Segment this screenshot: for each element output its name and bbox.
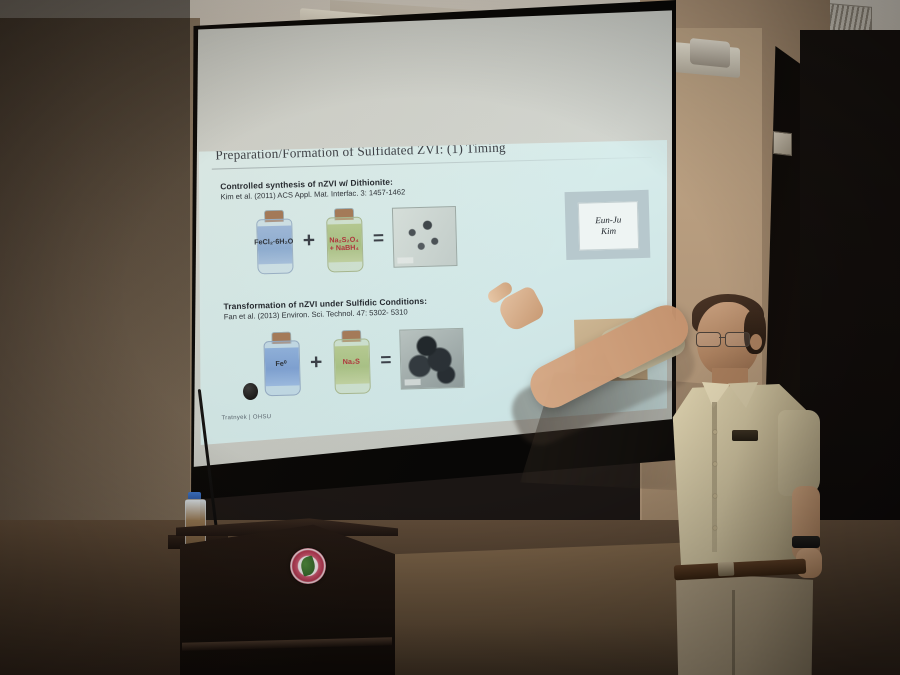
right-sleeve [778, 410, 820, 496]
eyeglasses-icon [696, 332, 754, 345]
shirt-pocket-logo [732, 430, 758, 441]
equals-operator-1: = [373, 228, 385, 247]
reagent-jar-na2s: Na₂S [330, 329, 372, 392]
podium [180, 520, 395, 675]
sem-micrograph-image [400, 328, 466, 390]
section-1-text: Controlled synthesis of nZVI w/ Dithioni… [220, 176, 405, 201]
leaf-icon [299, 555, 318, 576]
section-2-equation: Fe⁰ + Na₂S = [260, 327, 465, 394]
nanoparticle-tem-image [392, 206, 458, 268]
shirt-button [713, 430, 717, 434]
equals-operator-2: = [380, 350, 392, 369]
belt-buckle [718, 562, 735, 577]
scale-bar [405, 379, 421, 385]
screen-roller-end-cap [690, 38, 730, 68]
left-wall-shadow [0, 0, 190, 560]
microphone-head [243, 383, 258, 400]
portrait-name-line1: Eun-Ju [595, 214, 621, 225]
shirt-button [713, 494, 717, 498]
shirt-button [713, 462, 717, 466]
shirt-button [713, 526, 717, 530]
reagent-label-3: Fe⁰ [257, 359, 305, 369]
presenter [640, 290, 880, 675]
light-switch-plate[interactable] [773, 131, 792, 156]
section-2-text: Transformation of nZVI under Sulfidic Co… [223, 296, 427, 321]
scale-bar [398, 257, 414, 263]
portrait-name-line2: Kim [601, 226, 616, 236]
plus-operator-1: + [302, 229, 315, 250]
researcher-portrait-card: Eun-Ju Kim [565, 190, 651, 260]
plus-operator-2: + [310, 351, 323, 372]
lecture-hall-photo: Preparation/Formation of Sulfidated ZVI:… [0, 0, 900, 675]
reagent-jar-zvi: Fe⁰ [260, 331, 302, 394]
institution-seal [290, 548, 326, 584]
reagent-jar-dithionite: Na₂S₂O₄ + NaBH₄ [323, 208, 365, 271]
section-1-equation: FeCl₂·6H₂O + Na₂S₂O₄ + NaBH₄ = [253, 205, 458, 272]
reagent-label-4: Na₂S [327, 357, 375, 367]
lens-right [725, 332, 750, 347]
portrait-name-plate: Eun-Ju Kim [578, 201, 639, 251]
reagent-label-1: FeCl₂·6H₂O [250, 237, 298, 247]
reagent-jar-fecl2: FeCl₂·6H₂O [253, 209, 295, 272]
reagent-label-2-line2: + NaBH₄ [330, 243, 359, 253]
reagent-label-2: Na₂S₂O₄ + NaBH₄ [320, 235, 368, 253]
water-bottle [184, 492, 205, 548]
trouser-seam [732, 590, 735, 675]
wristwatch [792, 536, 820, 548]
lens-left [696, 332, 721, 347]
slide-footer: Tratnyek | OHSU [221, 414, 271, 421]
trousers [670, 572, 816, 675]
